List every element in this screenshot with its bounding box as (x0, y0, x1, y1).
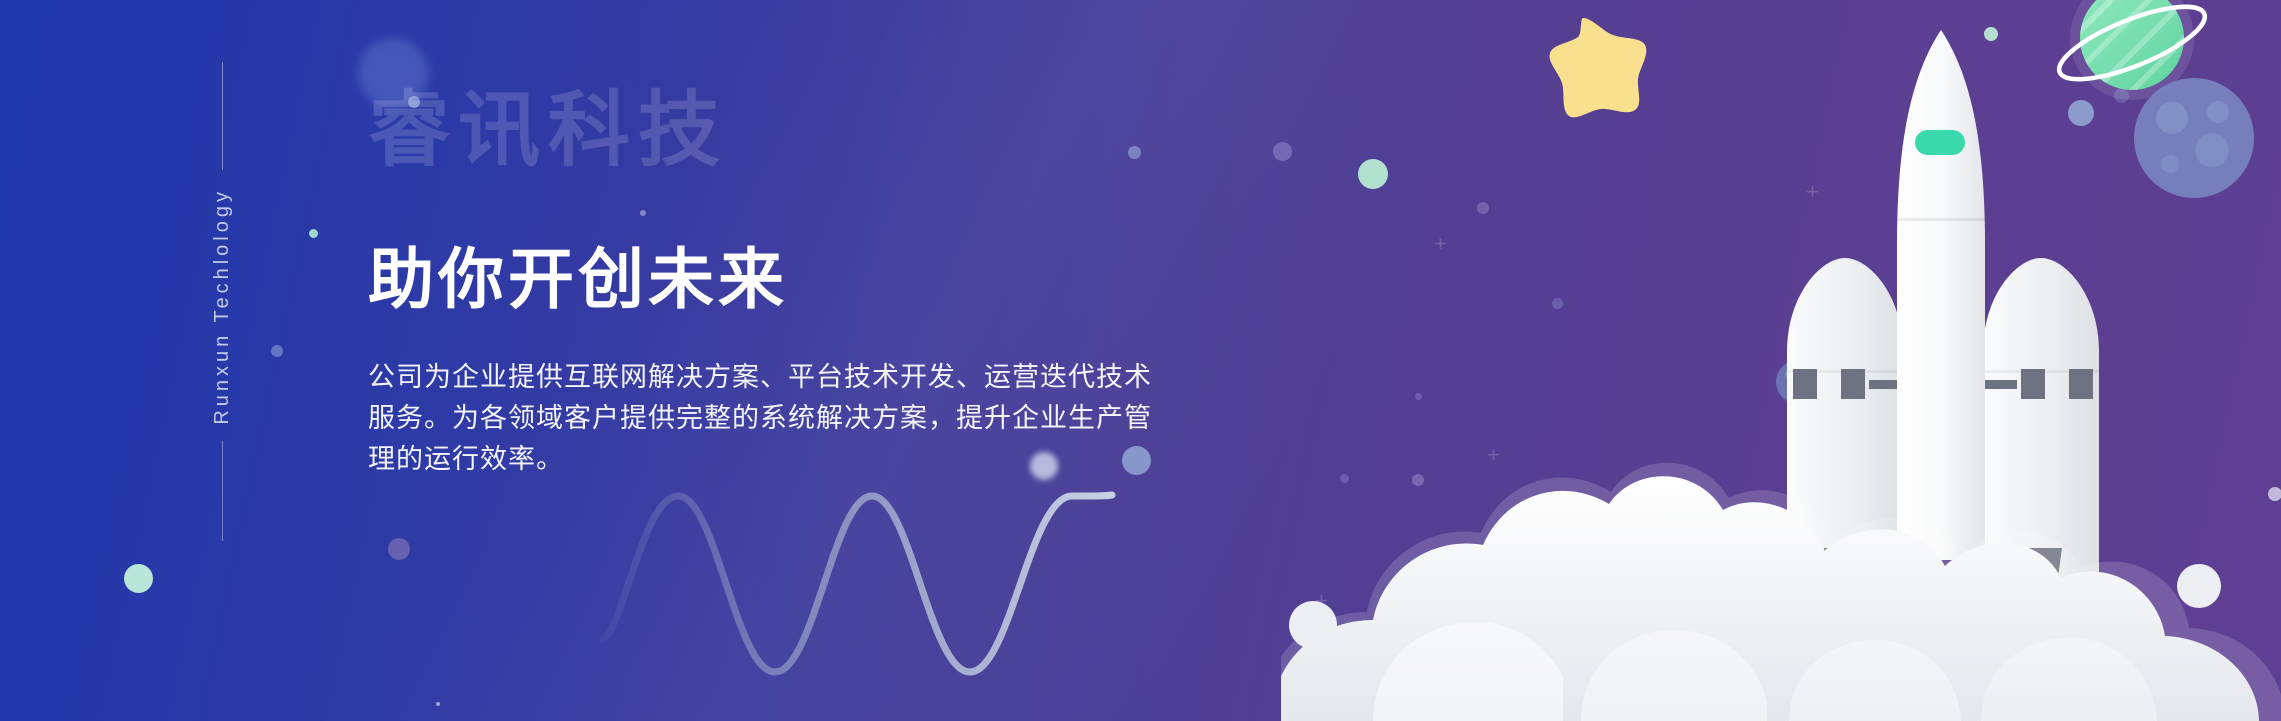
vertical-divider-top (222, 62, 223, 170)
cloud-orb-right (2177, 564, 2221, 608)
decor-dot-mint-2 (124, 564, 153, 593)
rocket-illustration (1281, 0, 2281, 721)
ghost-company-name: 睿讯科技 (368, 90, 728, 172)
vertical-divider-bottom (222, 441, 223, 541)
star-icon (1550, 18, 1647, 117)
moon-sphere (2134, 78, 2254, 198)
vertical-brand: Runxun Techlology (192, 0, 252, 721)
page-title: 助你开创未来 (368, 246, 788, 312)
vertical-brand-text: Runxun Techlology (211, 188, 234, 425)
rocket-window-glass (1915, 130, 1965, 155)
decorative-wave (600, 450, 1260, 680)
cloud-orb-left (1289, 601, 1337, 649)
cloud-group (1281, 463, 2281, 721)
rocket-body-main (1897, 30, 1985, 560)
decor-dot-lavender-2 (271, 345, 283, 357)
decor-dot-mint-1 (309, 229, 318, 238)
hero-banner: + + + + + + Runxun Techlology 睿讯科技 助你开创未… (0, 0, 2281, 721)
